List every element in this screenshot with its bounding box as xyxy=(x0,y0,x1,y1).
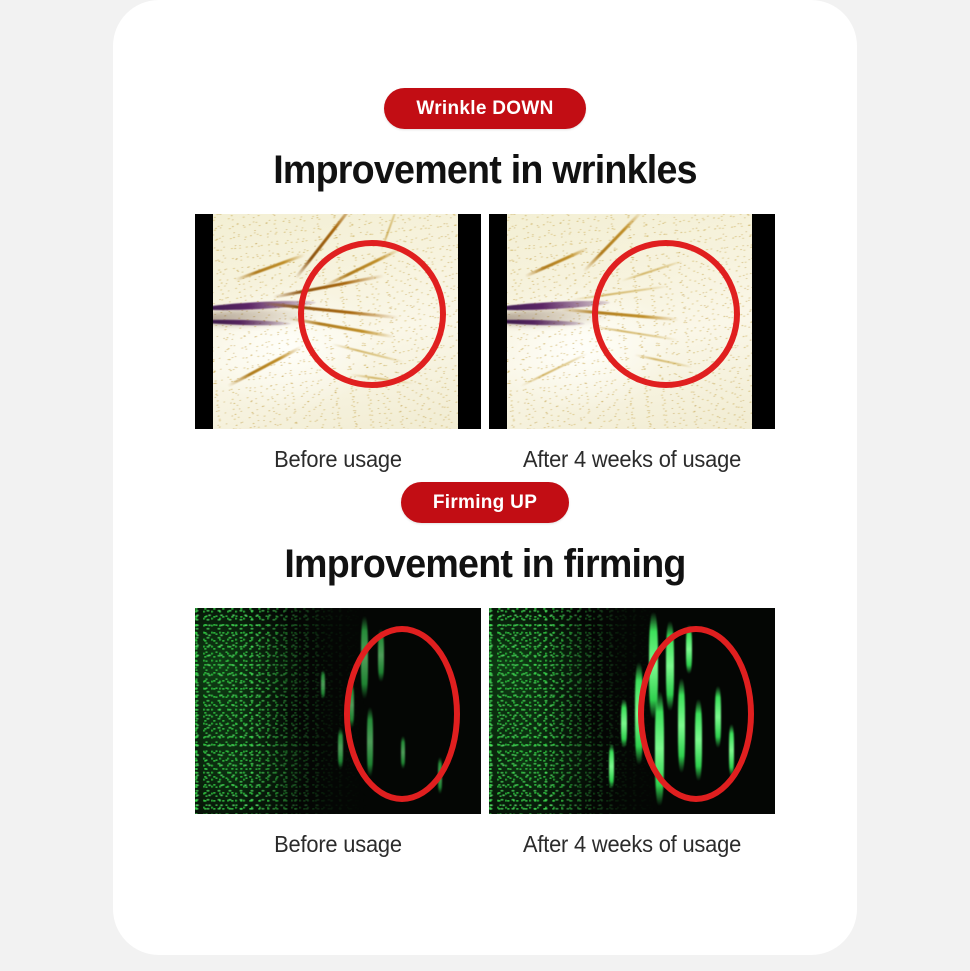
panel-wrinkles-after: After 4 weeks of usage xyxy=(489,214,775,473)
image-pair-wrinkles: Before usage xyxy=(113,214,857,473)
badge-wrinkle-down: Wrinkle DOWN xyxy=(384,88,585,129)
image-frame-firming-before xyxy=(195,608,481,814)
black-bar-left xyxy=(489,214,507,429)
wrinkle-line xyxy=(227,345,302,387)
badge-row-wrinkles: Wrinkle DOWN xyxy=(113,88,857,129)
black-bar-right xyxy=(458,214,481,429)
badge-firming-up: Firming UP xyxy=(401,482,569,523)
panel-wrinkles-before: Before usage xyxy=(195,214,481,473)
section-wrinkles: Wrinkle DOWN Improvement in wrinkles xyxy=(113,88,857,473)
wrinkle-line xyxy=(520,353,587,387)
annotation-circle-before xyxy=(298,240,446,388)
results-card: Wrinkle DOWN Improvement in wrinkles xyxy=(113,0,857,955)
badge-row-firming: Firming UP xyxy=(113,482,857,523)
annotation-ellipse-before xyxy=(344,626,460,802)
section-firming: Firming UP Improvement in firming xyxy=(113,482,857,858)
collagen-fiber xyxy=(609,744,614,789)
black-bar-right xyxy=(752,214,775,429)
page-background: Wrinkle DOWN Improvement in wrinkles xyxy=(0,0,970,971)
annotation-circle-after xyxy=(592,240,740,388)
black-bar-left xyxy=(195,214,213,429)
image-frame-firming-after xyxy=(489,608,775,814)
heading-improvement-in-firming: Improvement in firming xyxy=(135,543,834,586)
collagen-fiber xyxy=(621,699,627,748)
image-frame-wrinkles-before xyxy=(195,214,481,429)
caption-firming-after: After 4 weeks of usage xyxy=(496,831,768,858)
panel-firming-after: After 4 weeks of usage xyxy=(489,608,775,858)
annotation-ellipse-after xyxy=(638,626,754,802)
wrinkle-line xyxy=(524,248,588,279)
image-frame-wrinkles-after xyxy=(489,214,775,429)
caption-firming-before: Before usage xyxy=(202,831,474,858)
collagen-fiber xyxy=(338,728,343,769)
panel-firming-before: Before usage xyxy=(195,608,481,858)
heading-improvement-in-wrinkles: Improvement in wrinkles xyxy=(135,149,834,192)
collagen-fiber xyxy=(321,670,325,699)
caption-wrinkles-before: Before usage xyxy=(202,446,474,473)
image-pair-firming: Before usage xyxy=(113,608,857,858)
caption-wrinkles-after: After 4 weeks of usage xyxy=(496,446,768,473)
